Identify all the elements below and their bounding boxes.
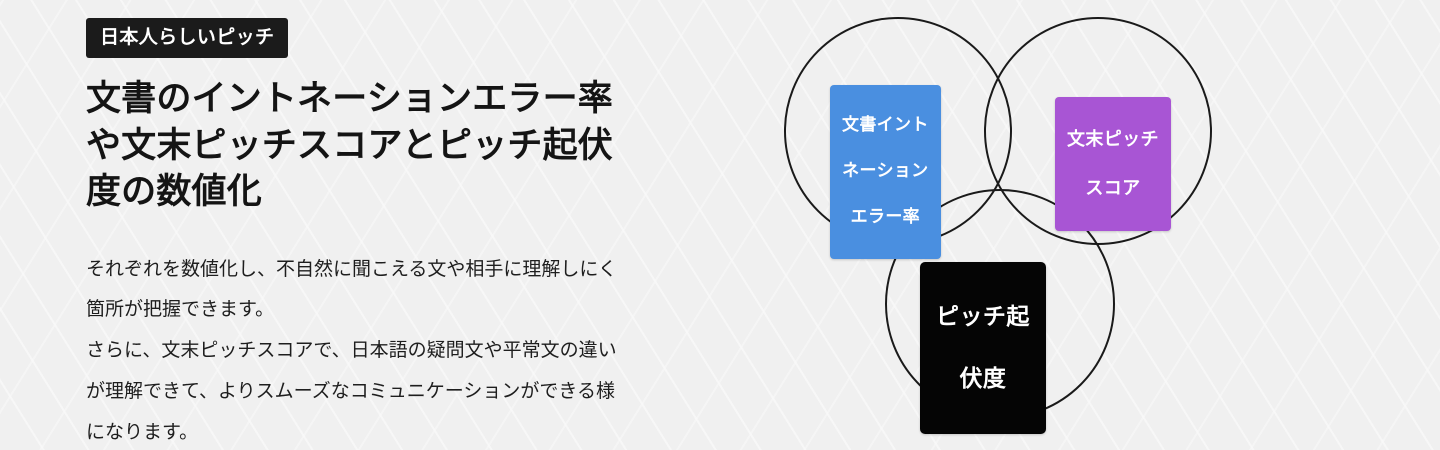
feature-section: 日本人らしいピッチ 文書のイントネーションエラー率や文末ピッチスコアとピッチ起伏… xyxy=(0,0,1440,450)
text-column: 日本人らしいピッチ 文書のイントネーションエラー率や文末ピッチスコアとピッチ起伏… xyxy=(0,0,770,450)
eyebrow-badge: 日本人らしいピッチ xyxy=(86,18,288,58)
venn-diagram: 文書イント ネーション エラー率 文末ピッチ スコア ピッチ起 伏度 xyxy=(770,0,1440,450)
venn-label-line: ピッチ起 xyxy=(936,301,1030,332)
venn-label-line: ネーション xyxy=(842,160,929,183)
venn-label-line: 伏度 xyxy=(936,363,1030,394)
body-paragraph-1: それぞれを数値化し、不自然に聞こえる文や相手に理解しにく箇所が把握できます。 xyxy=(86,250,626,332)
venn-label-line: スコア xyxy=(1067,176,1159,200)
body-paragraph-2: さらに、文末ピッチスコアで、日本語の疑問文や平常文の違いが理解できて、よりスムー… xyxy=(86,331,626,450)
page-title: 文書のイントネーションエラー率や文末ピッチスコアとピッチ起伏度の数値化 xyxy=(86,76,616,216)
venn-label-pitch-range: ピッチ起 伏度 xyxy=(920,262,1046,434)
venn-label-line: エラー率 xyxy=(842,206,929,229)
venn-label-sentence-pitch: 文末ピッチ スコア xyxy=(1055,97,1171,231)
body-copy: それぞれを数値化し、不自然に聞こえる文や相手に理解しにく箇所が把握できます。 さ… xyxy=(86,250,626,450)
venn-label-doc-intonation: 文書イント ネーション エラー率 xyxy=(830,85,941,259)
venn-column: 文書イント ネーション エラー率 文末ピッチ スコア ピッチ起 伏度 xyxy=(770,0,1440,450)
venn-label-line: 文書イント xyxy=(842,114,929,137)
venn-label-line: 文末ピッチ xyxy=(1067,127,1159,151)
